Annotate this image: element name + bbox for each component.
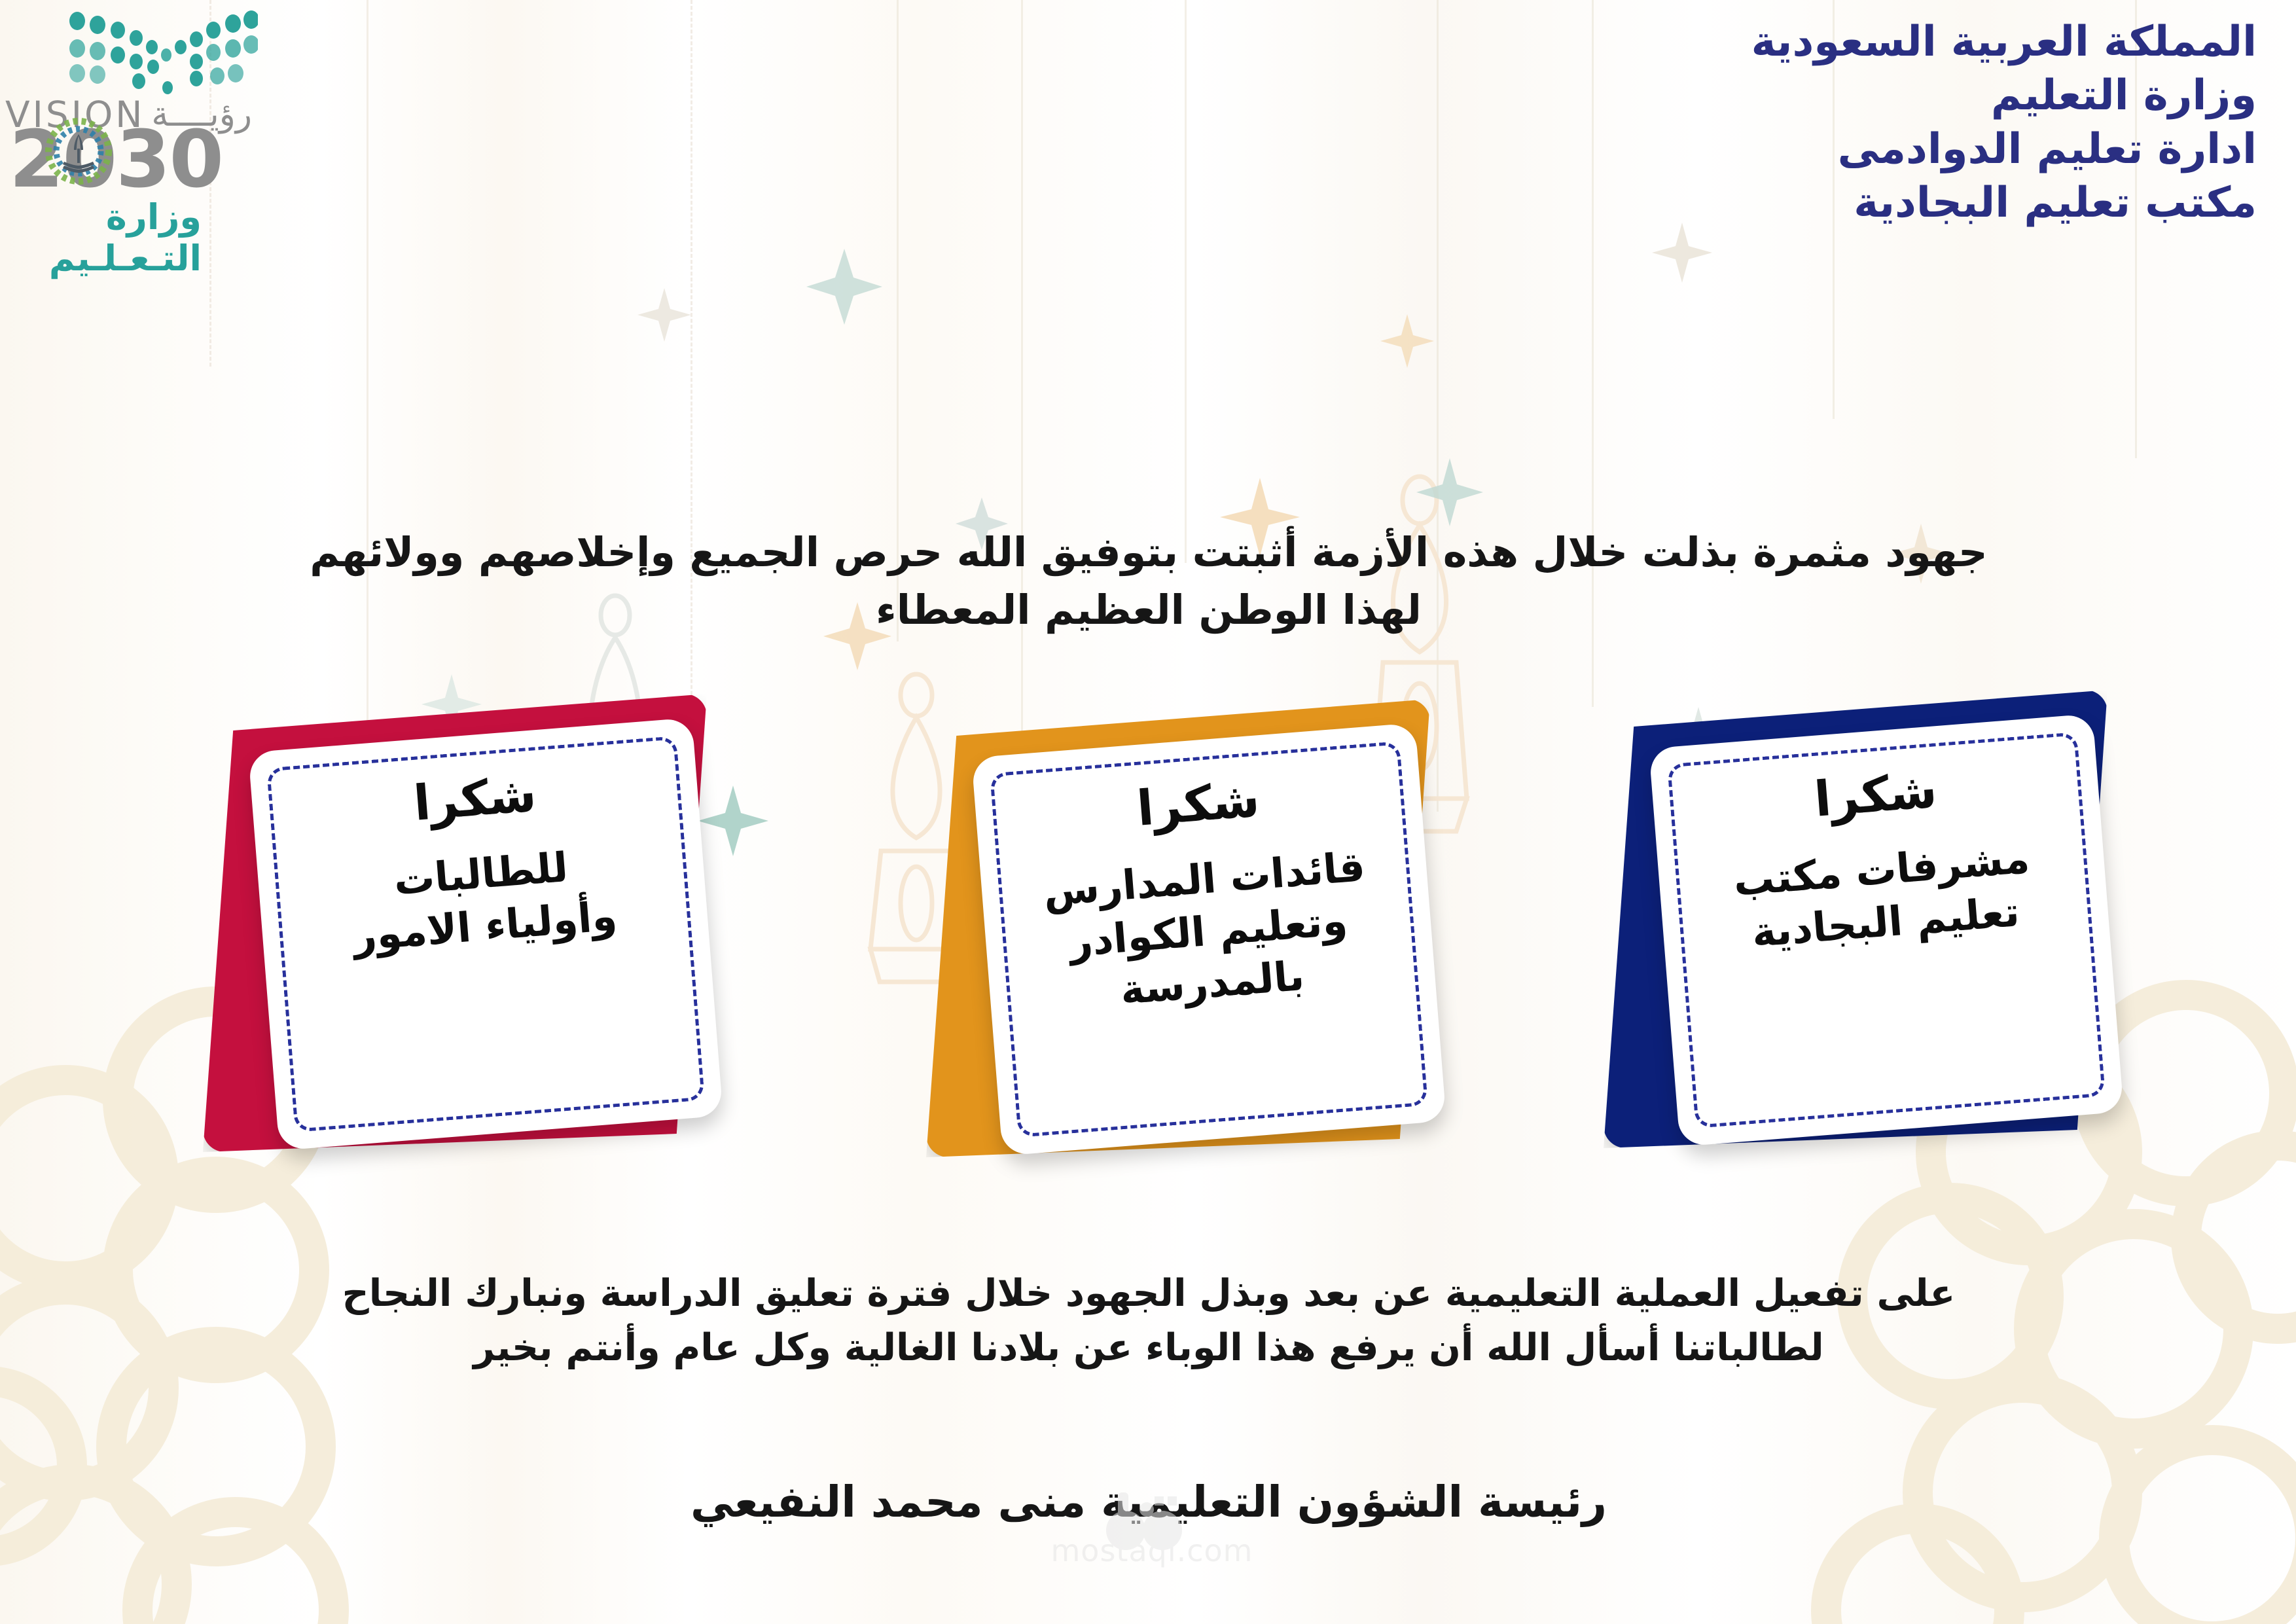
- closing-line-2: لطالباتنا أسأل الله أن يرفع هذا الوباء ع…: [39, 1321, 2258, 1375]
- vision-2030-logo: VISION رؤيــــة 2030: [5, 7, 267, 229]
- signature-line: رئيسة الشؤون التعليمية منى محمد النفيعي: [39, 1477, 2258, 1527]
- intro-paragraph: جهود مثمرة بذلت خلال هذه الأزمة أثبتت بت…: [39, 524, 2258, 639]
- card-front-leaders[interactable]: شكرا قائدات المدارس وتعليم الكوادر بالمد…: [971, 723, 1446, 1155]
- card-thanks-label-students: شكرا: [412, 768, 538, 831]
- official-header: المملكة العربية السعودية وزارة التعليم ا…: [1751, 16, 2257, 230]
- thanks-cards-row: شكرا للطالبات وأولياء الامور شكرا قائدات…: [0, 674, 2296, 1224]
- intro-line-1: جهود مثمرة بذلت خلال هذه الأزمة أثبتت بت…: [39, 524, 2258, 581]
- closing-line-1: على تفعيل العملية التعليمية عن بعد وبذل …: [39, 1267, 2258, 1321]
- card-thanks-label-leaders: شكرا: [1135, 773, 1261, 836]
- header-line-office: مكتب تعليم البجادية: [1751, 177, 2257, 230]
- intro-line-2: لهذا الوطن العظيم المعطاء: [39, 581, 2258, 639]
- header-line-kingdom: المملكة العربية السعودية: [1751, 16, 2257, 69]
- thanks-card-leaders[interactable]: شكرا قائدات المدارس وتعليم الكوادر بالمد…: [913, 679, 1502, 1203]
- card-thanks-label-supervisors: شكرا: [1812, 764, 1939, 827]
- card-front-supervisors[interactable]: شكرا مشرفات مكتب تعليم البجادية: [1649, 713, 2124, 1146]
- vision-dots-icon: [68, 10, 258, 96]
- saudi-emblem-icon: [39, 112, 118, 190]
- closing-paragraph: على تفعيل العملية التعليمية عن بعد وبذل …: [39, 1267, 2258, 1375]
- vision-year: 2030: [9, 124, 206, 196]
- header-line-admin: ادارة تعليم الدوادمى: [1751, 123, 2257, 177]
- card-front-students[interactable]: شكرا للطالبات وأولياء الامور: [248, 717, 723, 1150]
- moe-wordmark: وزارة التـعـلـيم: [12, 196, 202, 279]
- card-line-students-2: وأولياء الامور: [351, 890, 619, 962]
- thanks-card-supervisors[interactable]: شكرا مشرفات مكتب تعليم البجادية: [1590, 670, 2179, 1194]
- header-line-ministry: وزارة التعليم: [1751, 69, 2257, 123]
- thanks-card-students[interactable]: شكرا للطالبات وأولياء الامور: [190, 674, 779, 1198]
- poster-canvas: VISION رؤيــــة 2030: [0, 0, 2296, 1624]
- watermark-text: mostaql.com: [1051, 1533, 1253, 1568]
